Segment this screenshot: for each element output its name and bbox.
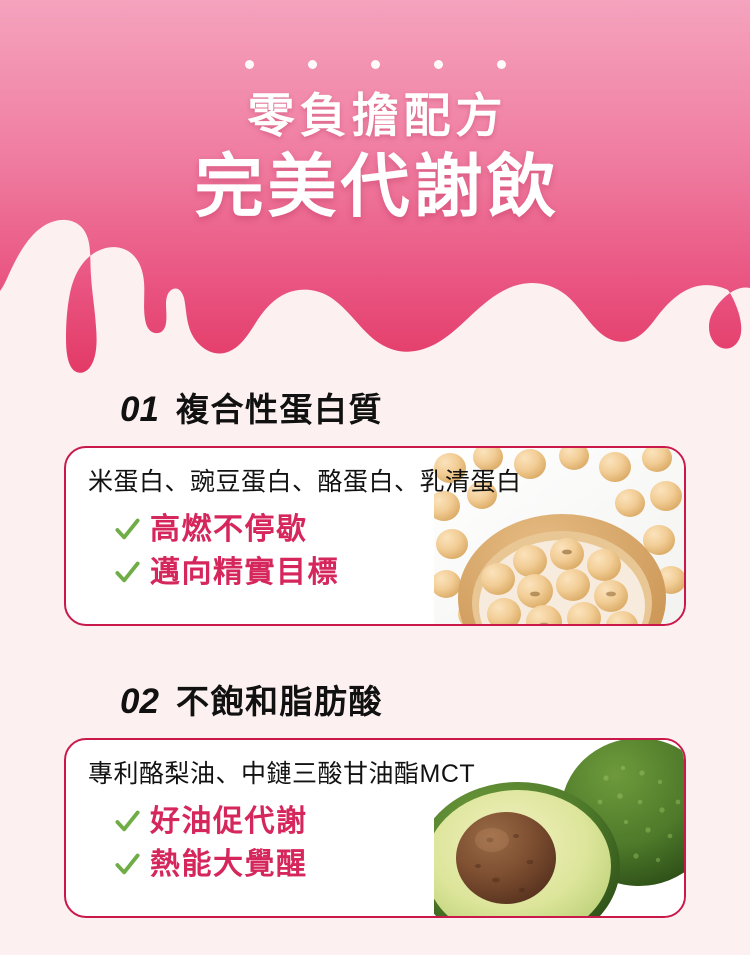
decorative-dot: [308, 60, 317, 69]
hero-text-block: 零負擔配方 完美代謝飲: [0, 88, 750, 227]
feature-card-body-02: 專利酪梨油、中鏈三酸甘油酯MCT 好油促代謝 熱能大覺醒: [66, 740, 684, 886]
decorative-dot: [434, 60, 443, 69]
section-number: 01: [120, 392, 159, 427]
ingredient-list-01: 米蛋白、豌豆蛋白、酪蛋白、乳清蛋白: [88, 470, 684, 495]
feature-section-02: 02 不飽和脂肪酸: [0, 684, 750, 918]
feature-card-body-01: 米蛋白、豌豆蛋白、酪蛋白、乳清蛋白 高燃不停歇 邁向精實目標: [66, 448, 684, 594]
section-heading-01: 01 複合性蛋白質: [0, 392, 750, 438]
decorative-dot: [245, 60, 254, 69]
benefit-item: 邁向精實目標: [114, 551, 684, 594]
hero-subheadline: 零負擔配方: [0, 88, 750, 143]
hero-banner: 零負擔配方 完美代謝飲: [0, 0, 750, 380]
decorative-dot: [371, 60, 380, 69]
feature-section-01: 01 複合性蛋白質: [0, 392, 750, 626]
check-icon: [114, 808, 141, 835]
check-icon: [114, 851, 141, 878]
decorative-dot: [497, 60, 506, 69]
benefit-item: 熱能大覺醒: [114, 843, 684, 886]
check-icon: [114, 516, 141, 543]
check-icon: [114, 559, 141, 586]
section-number: 02: [120, 684, 159, 719]
benefit-label: 熱能大覺醒: [150, 850, 308, 880]
ingredient-list-02: 專利酪梨油、中鏈三酸甘油酯MCT: [88, 762, 684, 787]
benefit-item: 好油促代謝: [114, 800, 684, 843]
decorative-dot-row: [0, 60, 750, 69]
hero-headline: 完美代謝飲: [0, 147, 750, 227]
section-heading-02: 02 不飽和脂肪酸: [0, 684, 750, 730]
benefit-label: 邁向精實目標: [150, 558, 339, 588]
feature-card-02: 專利酪梨油、中鏈三酸甘油酯MCT 好油促代謝 熱能大覺醒: [64, 738, 686, 918]
benefit-list-02: 好油促代謝 熱能大覺醒: [88, 800, 684, 886]
feature-card-01: 米蛋白、豌豆蛋白、酪蛋白、乳清蛋白 高燃不停歇 邁向精實目標: [64, 446, 686, 626]
benefit-label: 高燃不停歇: [150, 515, 308, 545]
benefit-item: 高燃不停歇: [114, 508, 684, 551]
section-title: 複合性蛋白質: [176, 393, 383, 426]
benefit-label: 好油促代謝: [150, 807, 308, 837]
benefit-list-01: 高燃不停歇 邁向精實目標: [88, 508, 684, 594]
section-title: 不飽和脂肪酸: [176, 685, 383, 718]
